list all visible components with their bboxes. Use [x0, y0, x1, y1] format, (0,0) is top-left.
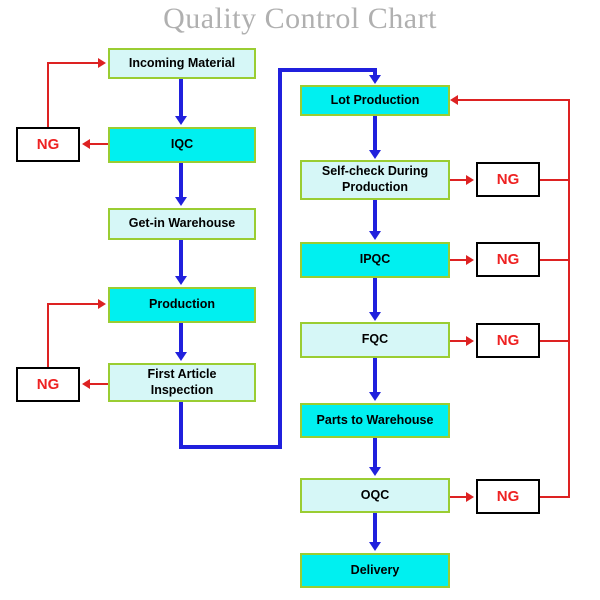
ng-label: NG — [37, 136, 60, 153]
flow-line-iqc-to-warehouse — [179, 163, 183, 199]
ng-box-fqc[interactable]: NG — [476, 323, 540, 358]
node-lot-production[interactable]: Lot Production — [300, 85, 450, 116]
node-label-line2: Inspection — [151, 383, 214, 399]
ng-label: NG — [37, 376, 60, 393]
node-label: IPQC — [360, 252, 391, 268]
flow-line-production-to-first-article — [179, 323, 183, 355]
flow-line-parts-to-oqc — [373, 438, 377, 470]
node-label: OQC — [361, 488, 389, 504]
quality-control-chart: Quality Control Chart — [0, 0, 600, 600]
node-parts-to-warehouse[interactable]: Parts to Warehouse — [300, 403, 450, 438]
node-label: FQC — [362, 332, 388, 348]
flow-arrowhead-oqc — [369, 467, 381, 476]
reject-line-first-article-to-ng — [90, 383, 110, 385]
ng-box-first-article[interactable]: NG — [16, 367, 80, 402]
reject-line-iqc-to-ng — [90, 143, 110, 145]
node-label: Delivery — [351, 563, 400, 579]
node-label-line2: Production — [342, 180, 408, 196]
flow-line-right-up — [278, 68, 282, 449]
flow-arrowhead-fqc — [369, 312, 381, 321]
node-incoming-material[interactable]: Incoming Material — [108, 48, 256, 79]
ng-box-self-check[interactable]: NG — [476, 162, 540, 197]
flow-line-oqc-to-delivery — [373, 513, 377, 545]
flow-line-selfcheck-to-ipqc — [373, 200, 377, 234]
reject-arrowhead-fqc-ng — [466, 336, 474, 346]
reject-line-ng-right-production — [47, 303, 100, 305]
flow-line-incoming-to-iqc — [179, 78, 183, 118]
reject-line-ipqc-ng-to-bus — [540, 259, 570, 261]
ng-label: NG — [497, 171, 520, 188]
node-label-line1: Self-check During — [322, 164, 428, 180]
flow-arrowhead-self-check — [369, 150, 381, 159]
flow-arrowhead-iqc — [175, 116, 187, 125]
ng-label: NG — [497, 488, 520, 505]
reject-arrowhead-oqc-ng — [466, 492, 474, 502]
reject-arrowhead-production — [98, 299, 106, 309]
flow-line-top-to-lot-production — [278, 68, 377, 72]
reject-line-oqc-ng-to-bus — [540, 496, 570, 498]
ng-box-oqc[interactable]: NG — [476, 479, 540, 514]
node-label: IQC — [171, 137, 193, 153]
page-title: Quality Control Chart — [0, 2, 600, 36]
ng-box-ipqc[interactable]: NG — [476, 242, 540, 277]
reject-arrowhead-iqc-ng — [82, 139, 90, 149]
flow-line-ipqc-to-fqc — [373, 278, 377, 314]
reject-line-ng-up-production — [47, 303, 49, 368]
flow-line-lot-to-selfcheck — [373, 116, 377, 152]
node-iqc[interactable]: IQC — [108, 127, 256, 163]
reject-arrowhead-ipqc-ng — [466, 255, 474, 265]
reject-arrowhead-incoming-material — [98, 58, 106, 68]
node-label: Production — [149, 297, 215, 313]
reject-bus-to-lot-production — [458, 99, 570, 101]
flow-line-bottom-right — [179, 445, 282, 449]
node-get-in-warehouse[interactable]: Get-in Warehouse — [108, 208, 256, 240]
flow-arrowhead-ipqc — [369, 231, 381, 240]
flow-line-fqc-to-parts — [373, 358, 377, 395]
flow-arrowhead-parts-to-warehouse — [369, 392, 381, 401]
node-ipqc[interactable]: IPQC — [300, 242, 450, 278]
node-label: Lot Production — [331, 93, 420, 109]
reject-arrowhead-selfcheck-ng — [466, 175, 474, 185]
reject-bus-vertical — [568, 99, 570, 498]
node-label: Parts to Warehouse — [317, 413, 434, 429]
node-oqc[interactable]: OQC — [300, 478, 450, 513]
node-production[interactable]: Production — [108, 287, 256, 323]
flow-arrowhead-delivery — [369, 542, 381, 551]
node-label: Get-in Warehouse — [129, 216, 236, 232]
node-self-check-during-production[interactable]: Self-check During Production — [300, 160, 450, 200]
ng-box-iqc[interactable]: NG — [16, 127, 80, 162]
reject-line-fqc-ng-to-bus — [540, 340, 570, 342]
reject-arrowhead-lot-production — [450, 95, 458, 105]
reject-line-selfcheck-ng-to-bus — [540, 179, 570, 181]
node-delivery[interactable]: Delivery — [300, 553, 450, 588]
node-first-article-inspection[interactable]: First Article Inspection — [108, 363, 256, 402]
node-label-line1: First Article — [147, 367, 216, 383]
flow-line-warehouse-to-production — [179, 240, 183, 278]
node-label: Incoming Material — [129, 56, 235, 72]
flow-arrowhead-first-article — [175, 352, 187, 361]
flow-line-first-article-down — [179, 402, 183, 449]
reject-line-ng-right-incoming — [47, 62, 100, 64]
reject-line-ng-up-incoming — [47, 62, 49, 127]
reject-arrowhead-first-article-ng — [82, 379, 90, 389]
flow-arrowhead-lot-production — [369, 75, 381, 84]
flow-arrowhead-get-in-warehouse — [175, 197, 187, 206]
ng-label: NG — [497, 332, 520, 349]
node-fqc[interactable]: FQC — [300, 322, 450, 358]
flow-arrowhead-production — [175, 276, 187, 285]
ng-label: NG — [497, 251, 520, 268]
